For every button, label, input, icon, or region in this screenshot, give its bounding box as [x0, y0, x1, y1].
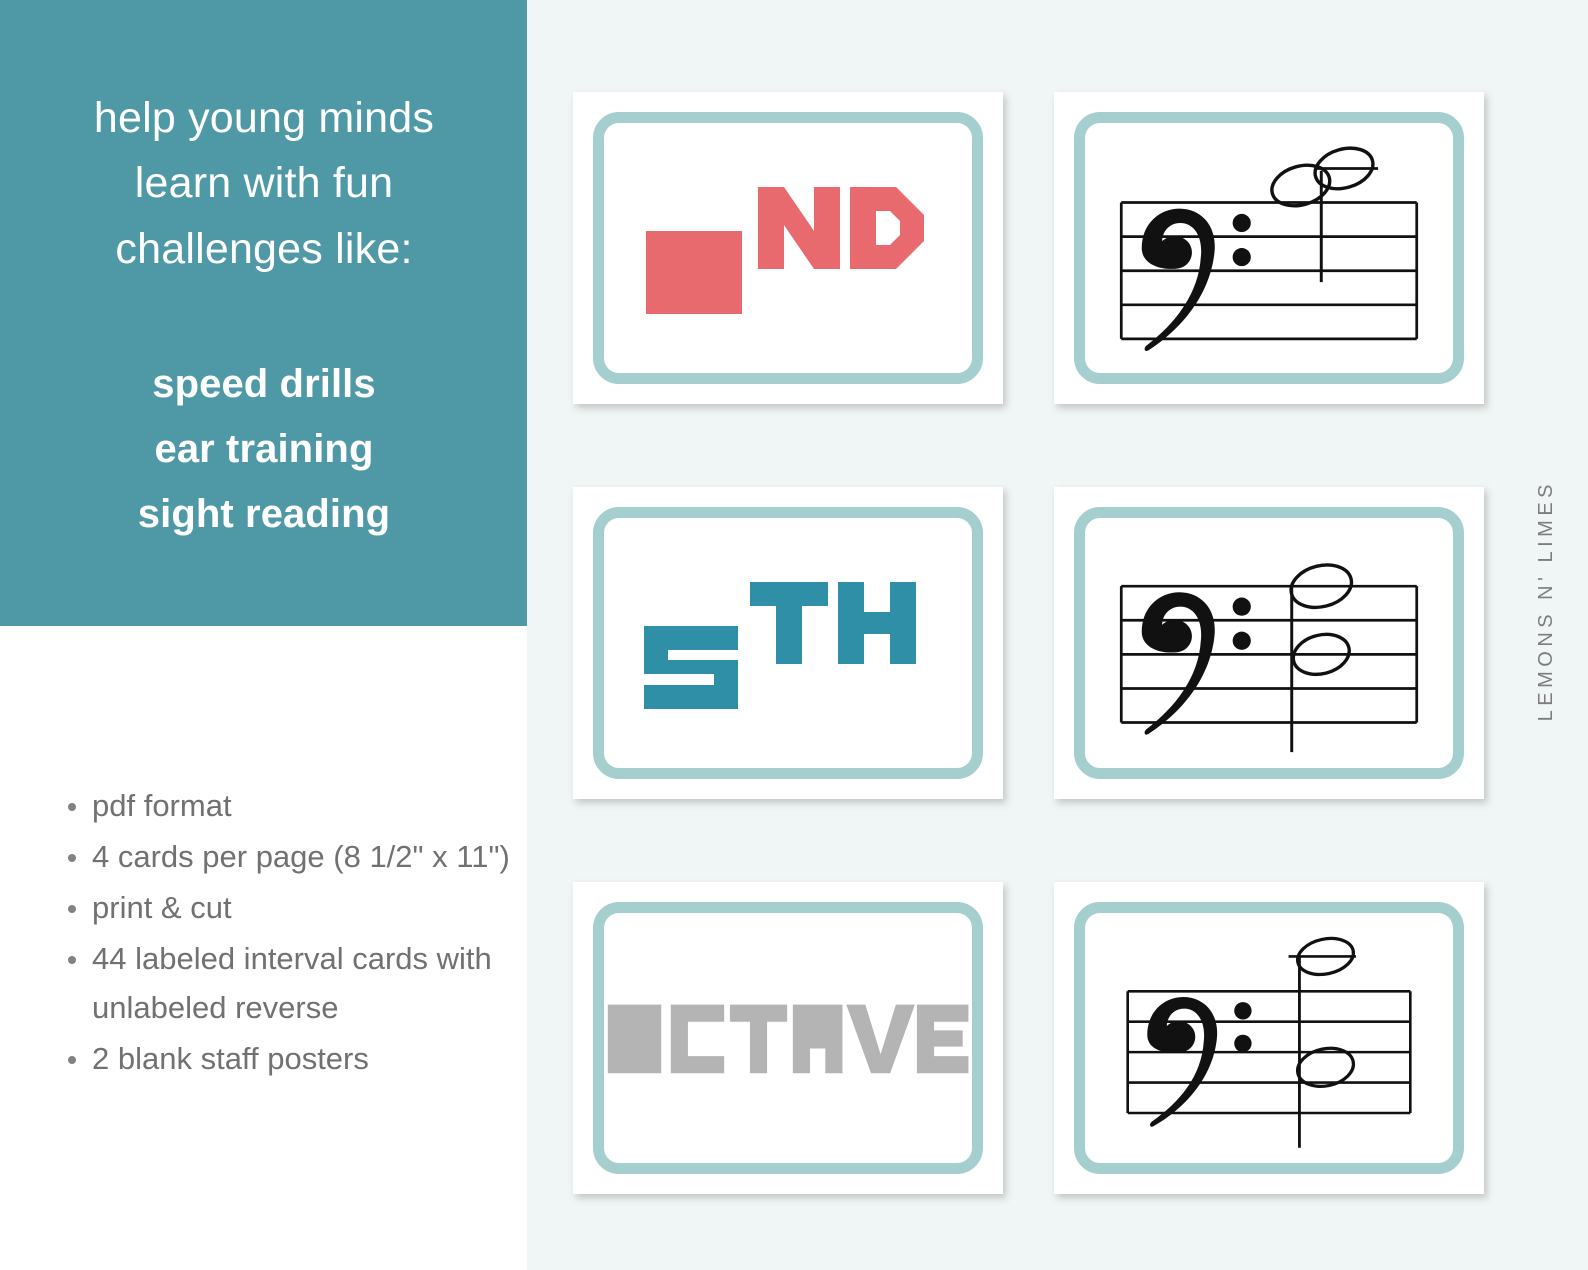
interval-label-octave-e-icon — [915, 983, 972, 1093]
interval-label-5th-icon — [638, 568, 938, 718]
product-details-list: pdf format 4 cards per page (8 1/2" x 11… — [62, 782, 512, 1086]
interval-label-octave-icon — [604, 983, 919, 1093]
cards-showcase-panel: LEMONS N' LIMES — [527, 0, 1588, 1270]
card-border-frame — [1074, 507, 1464, 779]
card-staff-octave — [1054, 882, 1484, 1194]
feature-sight-reading: sight reading — [46, 482, 482, 547]
card-border-frame — [1074, 112, 1464, 384]
headline-line-1: help young minds — [46, 86, 482, 151]
promo-graphic: help young minds learn with fun challeng… — [0, 0, 1588, 1270]
card-face — [604, 123, 972, 373]
brand-watermark: LEMONS N' LIMES — [1535, 480, 1558, 721]
card-5th — [573, 487, 1003, 799]
interval-label-2nd-icon — [638, 173, 938, 323]
left-column: help young minds learn with fun challeng… — [0, 0, 527, 1270]
feature-speed-drills: speed drills — [46, 352, 482, 417]
card-2nd — [573, 92, 1003, 404]
headline-line-2: learn with fun — [46, 151, 482, 216]
card-face — [1085, 123, 1453, 373]
card-border-frame — [593, 112, 983, 384]
card-border-frame — [593, 902, 983, 1174]
card-border-frame — [593, 507, 983, 779]
bass-clef-staff-5th — [1085, 518, 1453, 768]
bass-clef-staff-octave — [1085, 913, 1453, 1163]
list-item: 4 cards per page (8 1/2" x 11") — [62, 833, 512, 882]
feature-ear-training: ear training — [46, 417, 482, 482]
card-staff-5th — [1054, 487, 1484, 799]
bass-clef-staff-2nd — [1085, 123, 1453, 373]
feature-list: speed drills ear training sight reading — [46, 352, 482, 548]
bass-clef-icon — [1147, 997, 1251, 1127]
headline-line-3: challenges like: — [46, 217, 482, 282]
card-staff-2nd — [1054, 92, 1484, 404]
bass-clef-icon — [1142, 209, 1251, 351]
headline-block: help young minds learn with fun challeng… — [46, 86, 482, 282]
list-item: print & cut — [62, 884, 512, 933]
bass-clef-icon — [1142, 592, 1251, 734]
card-face — [604, 518, 972, 768]
note-head — [1294, 1043, 1357, 1091]
list-item: 2 blank staff posters — [62, 1035, 512, 1084]
card-face — [604, 913, 972, 1163]
teal-headline-panel: help young minds learn with fun challeng… — [0, 0, 527, 626]
list-item: pdf format — [62, 782, 512, 831]
card-face — [1085, 913, 1453, 1163]
list-item: 44 labeled interval cards with unlabeled… — [62, 935, 512, 1033]
card-octave — [573, 882, 1003, 1194]
card-border-frame — [1074, 902, 1464, 1174]
card-face — [1085, 518, 1453, 768]
